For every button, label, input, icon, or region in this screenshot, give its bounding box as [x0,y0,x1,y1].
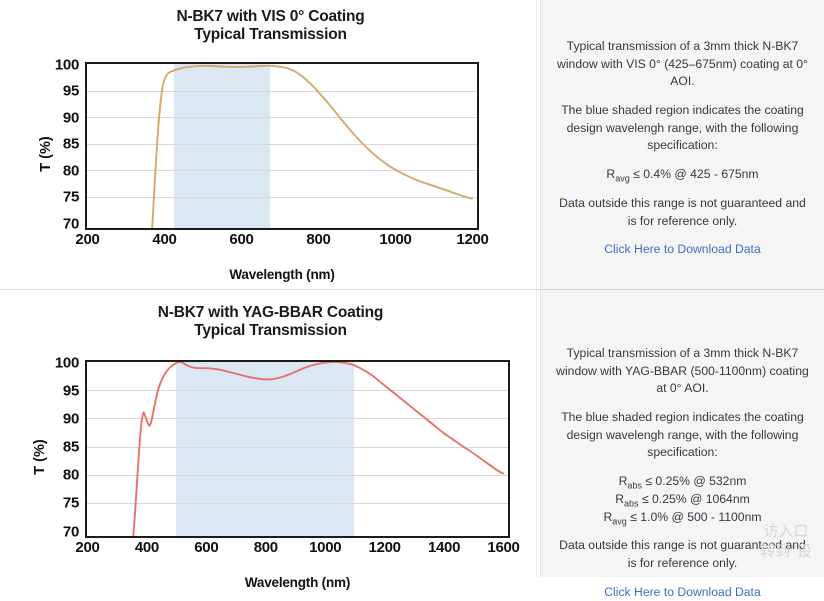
yag-spec-list: Rabs ≤ 0.25% @ 532nm Rabs ≤ 0.25% @ 1064… [555,473,810,526]
vis-spec-symbol: R [606,167,615,181]
vis-shade-note: The blue shaded region indicates the coa… [555,102,810,155]
x-axis-tick: 1400 [414,539,474,556]
description-column-vis: Typical transmission of a 3mm thick N-BK… [541,0,824,290]
y-axis-label-vis: T (%) [38,124,54,184]
chart-title-yag: N-BK7 with YAG-BBAR Coating Typical Tran… [0,304,541,341]
curve-path [133,362,503,538]
y-axis-tick: 95 [37,382,79,399]
chart-title-yag-line1: N-BK7 with YAG-BBAR Coating [158,304,383,321]
x-axis-tick: 800 [289,231,349,248]
transmission-curve [87,362,503,531]
chart-title-vis: N-BK7 with VIS 0° Coating Typical Transm… [0,8,541,45]
y-axis-tick: 95 [37,83,79,100]
transmission-curves-page: N-BK7 with VIS 0° Coating Typical Transm… [0,0,824,577]
download-data-link-vis[interactable]: Click Here to Download Data [555,241,810,259]
chart-title-yag-line2: Typical Transmission [0,322,541,340]
chart-column-yag: N-BK7 with YAG-BBAR Coating Typical Tran… [0,290,541,577]
description-column-yag: Typical transmission of a 3mm thick N-BK… [541,290,824,577]
yag-spec-value-3: ≤ 1.0% @ 500 - 1100nm [627,510,762,524]
vis-spec-list: Ravg ≤ 0.4% @ 425 - 675nm [555,166,810,184]
vis-spec-line: Ravg ≤ 0.4% @ 425 - 675nm [555,166,810,184]
chart-title-vis-line1: N-BK7 with VIS 0° Coating [176,8,364,25]
plot-yag: 7075808590951002004006008001000120014001… [85,360,510,538]
x-axis-tick: 1200 [355,539,415,556]
y-axis-tick: 70 [37,523,79,540]
y-axis-tick: 100 [37,56,79,73]
x-axis-tick: 200 [58,231,118,248]
download-data-link-yag[interactable]: Click Here to Download Data [555,584,810,601]
yag-disclaimer: Data outside this range is not guarantee… [555,537,810,572]
yag-spec-symbol-3: R [603,510,612,524]
yag-intro-text: Typical transmission of a 3mm thick N-BK… [555,345,810,398]
y-axis-tick: 100 [37,354,79,371]
x-axis-tick: 1000 [295,539,355,556]
x-axis-label-yag: Wavelength (nm) [85,575,510,590]
vis-spec-value: ≤ 0.4% @ 425 - 675nm [630,167,759,181]
yag-spec-symbol-2: R [615,492,624,506]
vis-intro-text: Typical transmission of a 3mm thick N-BK… [555,38,810,91]
x-axis-tick: 800 [236,539,296,556]
x-axis-tick: 200 [58,539,118,556]
y-axis-tick: 75 [37,189,79,206]
x-axis-tick: 1600 [474,539,534,556]
yag-spec-subscript-3: avg [612,516,627,526]
transmission-curve [87,64,472,223]
chart-column-vis: N-BK7 with VIS 0° Coating Typical Transm… [0,0,541,290]
x-axis-tick: 400 [117,539,177,556]
description-body-yag: Typical transmission of a 3mm thick N-BK… [541,345,824,601]
x-axis-label-vis: Wavelength (nm) [85,267,479,282]
yag-spec-value-1: ≤ 0.25% @ 532nm [642,474,746,488]
curve-path [149,66,472,230]
y-axis-tick: 75 [37,495,79,512]
panel-vis-coating: N-BK7 with VIS 0° Coating Typical Transm… [0,0,824,290]
y-axis-label-yag: T (%) [32,427,48,487]
yag-spec-subscript-2: abs [624,498,639,508]
panel-yag-coating: N-BK7 with YAG-BBAR Coating Typical Tran… [0,290,824,577]
vis-spec-subscript: avg [615,174,630,184]
x-axis-tick: 600 [176,539,236,556]
yag-shade-note: The blue shaded region indicates the coa… [555,409,810,462]
yag-spec-subscript-1: abs [627,481,642,491]
plot-vis: 70758085909510020040060080010001200 [85,62,479,230]
yag-spec-line-3: Ravg ≤ 1.0% @ 500 - 1100nm [555,509,810,527]
x-axis-tick: 400 [135,231,195,248]
x-axis-tick: 1000 [366,231,426,248]
x-axis-tick: 1200 [443,231,503,248]
yag-spec-line-2: Rabs ≤ 0.25% @ 1064nm [555,491,810,509]
vis-disclaimer: Data outside this range is not guarantee… [555,195,810,230]
plot-area-yag [85,360,510,538]
y-axis-tick: 70 [37,215,79,232]
chart-title-vis-line2: Typical Transmission [0,26,541,44]
x-axis-tick: 600 [212,231,272,248]
description-body-vis: Typical transmission of a 3mm thick N-BK… [541,38,824,259]
y-axis-tick: 90 [37,410,79,427]
plot-area-vis [85,62,479,230]
yag-spec-line-1: Rabs ≤ 0.25% @ 532nm [555,473,810,491]
yag-spec-value-2: ≤ 0.25% @ 1064nm [639,492,750,506]
